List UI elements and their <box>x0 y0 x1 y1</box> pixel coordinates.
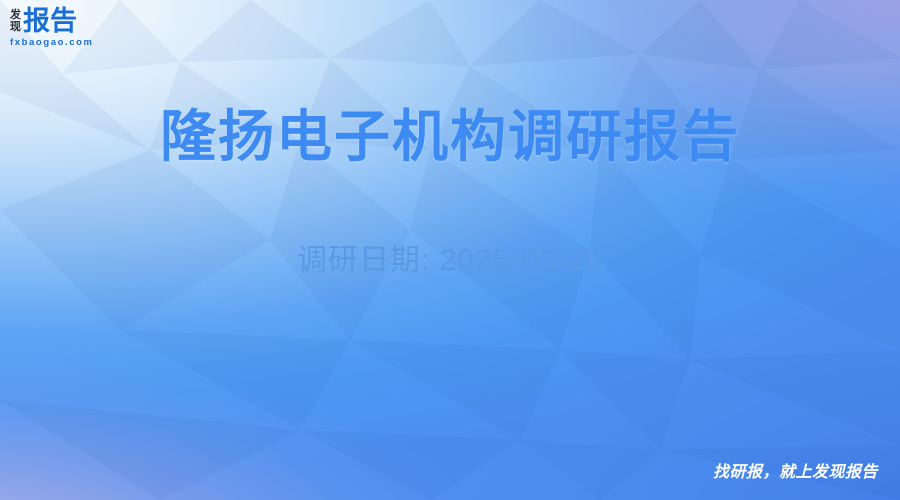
brand-mark-char-1: 发 <box>10 9 21 21</box>
brand-logo[interactable]: 发 现 报告 fxbaogao.com <box>10 8 94 48</box>
brand-wordmark: 报告 <box>23 8 77 35</box>
brand-url: fxbaogao.com <box>10 37 94 48</box>
page-title: 隆扬电子机构调研报告 <box>0 92 900 173</box>
brand-logo-row: 发 现 报告 <box>10 8 77 35</box>
brand-mark-stacked: 发 现 <box>10 9 21 35</box>
footer-slogan: 找研报，就上发现报告 <box>713 458 878 482</box>
page-subtitle: 调研日期: 2025-03-26 <box>0 235 900 279</box>
report-cover: 发 现 报告 fxbaogao.com 隆扬电子机构调研报告 调研日期: 202… <box>0 0 900 500</box>
brand-mark-char-2: 现 <box>10 21 21 33</box>
